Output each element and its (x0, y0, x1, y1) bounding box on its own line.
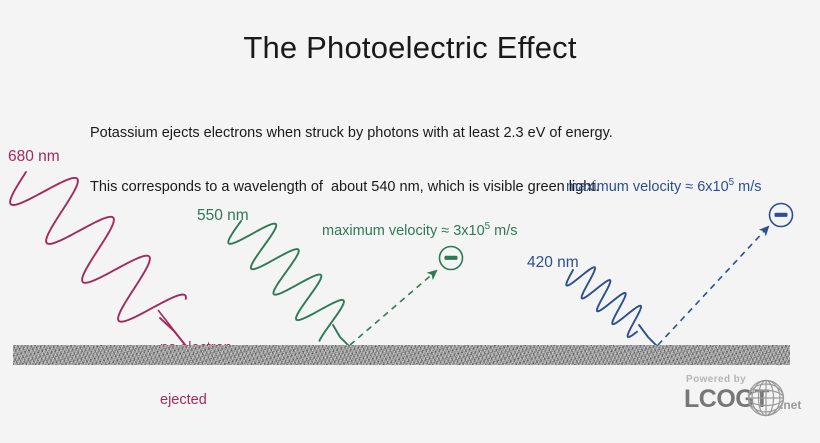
lcogt-tld: .net (780, 398, 801, 412)
lcogt-logo[interactable]: Powered by LCOGT .net (684, 374, 810, 420)
powered-by-label: Powered by (686, 374, 746, 385)
electron-trajectory-blue (658, 227, 768, 345)
electron-trajectory-green (350, 271, 436, 345)
photoelectric-effect-figure: The Photoelectric Effect Potassium eject… (0, 0, 820, 432)
no-electron-line-2: ejected (160, 392, 232, 409)
max-velocity-blue-prefix: maximum velocity ≈ 6x10 (566, 179, 729, 195)
max-velocity-label-green: maximum velocity ≈ 3x105 m/s (322, 221, 518, 240)
wavelength-label-550: 550 nm (197, 207, 249, 225)
max-velocity-label-blue: maximum velocity ≈ 6x105 m/s (566, 177, 762, 196)
electron-blue (770, 204, 793, 227)
no-electron-ejected-label: no electron ejected (160, 306, 232, 443)
diagram-vector-layer (0, 0, 820, 432)
max-velocity-green-prefix: maximum velocity ≈ 3x10 (322, 223, 485, 239)
minus-sign-blue (775, 213, 788, 217)
electron-green (440, 247, 463, 270)
wavelength-label-420: 420 nm (527, 254, 579, 272)
max-velocity-green-suffix: m/s (490, 223, 517, 239)
photon-wave-420 (566, 267, 657, 346)
wavelength-label-680: 680 nm (8, 148, 60, 166)
photon-550-tail (333, 325, 349, 346)
max-velocity-blue-suffix: m/s (734, 179, 761, 195)
metal-surface (13, 345, 790, 365)
minus-sign-green (445, 256, 458, 260)
photon-420-tail (639, 325, 657, 346)
